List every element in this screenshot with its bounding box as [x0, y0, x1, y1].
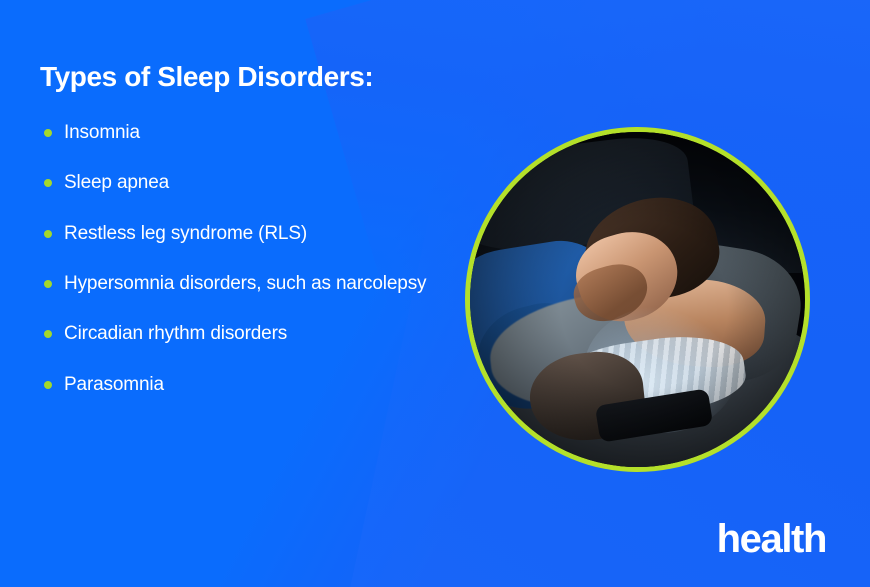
- list-item: Circadian rhythm disorders: [40, 321, 470, 346]
- bullet-dot-icon: [44, 330, 52, 338]
- list-item: Sleep apnea: [40, 170, 470, 195]
- list-item-label: Restless leg syndrome (RLS): [64, 223, 307, 244]
- list-item: Hypersomnia disorders, such as narcoleps…: [40, 271, 470, 296]
- brand-logo-health: health: [717, 519, 826, 559]
- bullet-dot-icon: [44, 381, 52, 389]
- list-item-label: Insomnia: [64, 122, 140, 143]
- bullet-dot-icon: [44, 230, 52, 238]
- list-item: Insomnia: [40, 120, 470, 145]
- bullet-dot-icon: [44, 129, 52, 137]
- photo-sleep-man: [470, 132, 805, 467]
- text-content-column: Types of Sleep Disorders: Insomnia Sleep…: [40, 60, 470, 397]
- bullet-dot-icon: [44, 280, 52, 288]
- list-item: Restless leg syndrome (RLS): [40, 221, 470, 246]
- list-item-label: Parasomnia: [64, 374, 164, 395]
- list-item-label: Circadian rhythm disorders: [64, 323, 287, 344]
- page-title: Types of Sleep Disorders:: [40, 60, 470, 94]
- list-item: Parasomnia: [40, 372, 470, 397]
- list-item-label: Sleep apnea: [64, 172, 169, 193]
- night-bedroom-scene: [470, 132, 805, 467]
- infographic-slide: Types of Sleep Disorders: Insomnia Sleep…: [0, 0, 870, 587]
- circular-photo-ring: [465, 127, 810, 472]
- bullet-dot-icon: [44, 179, 52, 187]
- sleep-disorders-list: Insomnia Sleep apnea Restless leg syndro…: [40, 120, 470, 398]
- list-item-label: Hypersomnia disorders, such as narcoleps…: [64, 273, 426, 294]
